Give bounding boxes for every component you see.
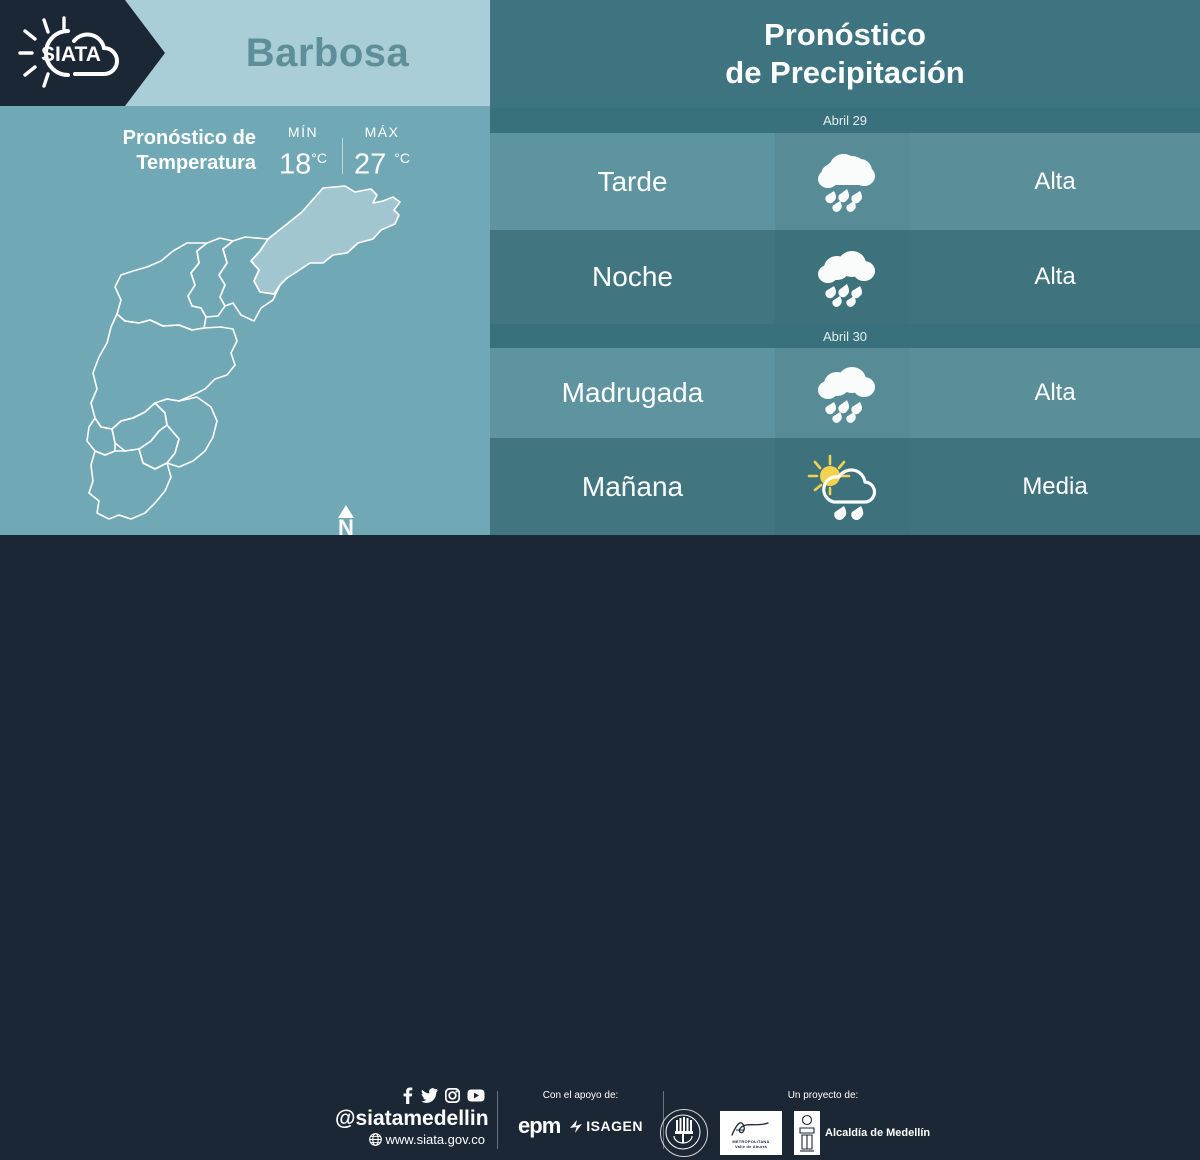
precipitation-title: Pronóstico de Precipitación <box>490 0 1200 108</box>
alcaldia-label: Alcaldía de Medellín <box>825 1127 930 1139</box>
rain-cloud-icon <box>775 133 910 230</box>
min-label: MÍN <box>270 122 336 142</box>
temperature-min: MÍN 18°C <box>270 122 336 181</box>
precipitation-level: Media <box>910 438 1200 535</box>
map-region-la-estrella <box>87 418 115 455</box>
precipitation-level: Alta <box>910 348 1200 438</box>
date-band-abril-29: Abril 29 <box>490 108 1200 133</box>
rain-cloud-icon <box>775 230 910 324</box>
siata-logo-text: SIATA <box>41 43 101 66</box>
isagen-mark-icon <box>569 1119 584 1134</box>
period-label: Madrugada <box>490 348 775 438</box>
support-logos: epm ISAGEN <box>508 1113 653 1139</box>
social-handle[interactable]: @siatamedellin <box>335 1106 485 1131</box>
footer-divider-1 <box>497 1091 498 1149</box>
social-icons <box>335 1086 485 1104</box>
forecast-row-manana[interactable]: Mañana Media <box>490 438 1200 535</box>
max-label: MÁX <box>349 122 415 142</box>
precipitation-title-line2: de Precipitación <box>725 54 964 92</box>
temperature-title-line2: Temperatura <box>136 152 256 174</box>
support-block: Con el apoyo de: epm ISAGEN <box>508 1089 653 1139</box>
map-region-itagui <box>112 403 167 451</box>
forecast-row-tarde[interactable]: Tarde Alta <box>490 133 1200 230</box>
precipitation-level: Alta <box>910 133 1200 230</box>
temperature-divider <box>342 138 343 174</box>
support-caption: Con el apoyo de: <box>508 1089 653 1103</box>
project-logos: METROPOLITANA Valle de Aburrá <box>660 1109 940 1157</box>
amva-script-icon <box>728 1117 774 1139</box>
project-block: Un proyecto de: <box>660 1089 940 1157</box>
precipitation-level: Alta <box>910 230 1200 324</box>
date-band-abril-30: Abril 30 <box>490 324 1200 349</box>
map-region-envigado <box>155 397 217 467</box>
weather-forecast-poster: SIATA Barbosa Pronóstico de Temperatura … <box>0 0 1200 630</box>
temperature-title: Pronóstico de Temperatura <box>85 122 256 176</box>
aburra-valley-map[interactable]: N <box>55 175 455 530</box>
sun-cloud-rain-icon <box>775 438 910 535</box>
forecast-row-noche[interactable]: Noche Alta <box>490 230 1200 324</box>
website-line[interactable]: www.siata.gov.co <box>335 1131 485 1148</box>
min-unit: °C <box>311 150 327 166</box>
amva-caption-line2: Valle de Aburrá <box>735 1144 767 1149</box>
map-svg <box>55 175 455 530</box>
instagram-icon[interactable] <box>445 1088 460 1103</box>
period-label: Noche <box>490 230 775 324</box>
period-label: Mañana <box>490 438 775 535</box>
city-title: Barbosa <box>165 0 490 106</box>
isagen-logo[interactable]: ISAGEN <box>569 1118 643 1134</box>
social-block: @siatamedellin www.siata.gov.co <box>335 1086 485 1148</box>
precipitation-panel: Pronóstico de Precipitación Abril 29 Tar… <box>490 0 1200 535</box>
forecast-row-madrugada[interactable]: Madrugada Alta <box>490 348 1200 438</box>
map-region-bello <box>115 243 207 330</box>
map-region-caldas <box>89 449 171 519</box>
globe-icon <box>369 1133 382 1146</box>
facebook-icon[interactable] <box>402 1087 414 1104</box>
alcaldia-mark-icon <box>794 1111 820 1155</box>
project-caption: Un proyecto de: <box>708 1089 938 1103</box>
isagen-wordmark: ISAGEN <box>586 1118 643 1134</box>
epm-logo[interactable]: epm <box>518 1113 560 1139</box>
alcaldia-de-medellin-logo[interactable]: Alcaldía de Medellín <box>794 1111 930 1155</box>
temperature-title-line1: Pronóstico de <box>123 127 256 149</box>
area-metropolitana-logo[interactable]: METROPOLITANA Valle de Aburrá <box>720 1111 782 1155</box>
youtube-icon[interactable] <box>467 1089 485 1102</box>
precipitation-title-line1: Pronóstico <box>764 16 926 54</box>
twitter-icon[interactable] <box>421 1088 438 1103</box>
map-region-barbosa <box>251 186 400 294</box>
max-unit: °C <box>394 150 410 166</box>
universidad-de-antioquia-seal[interactable] <box>660 1109 708 1157</box>
website-url: www.siata.gov.co <box>386 1131 485 1148</box>
sun-cloud-icon: SIATA <box>12 14 132 92</box>
rain-cloud-icon <box>775 348 910 438</box>
temperature-max: MÁX 27 °C <box>349 122 415 181</box>
footer: @siatamedellin www.siata.gov.co Con el a… <box>0 535 1200 630</box>
period-label: Tarde <box>490 133 775 230</box>
temperature-values: MÍN 18°C MÁX 27 °C <box>270 122 415 181</box>
